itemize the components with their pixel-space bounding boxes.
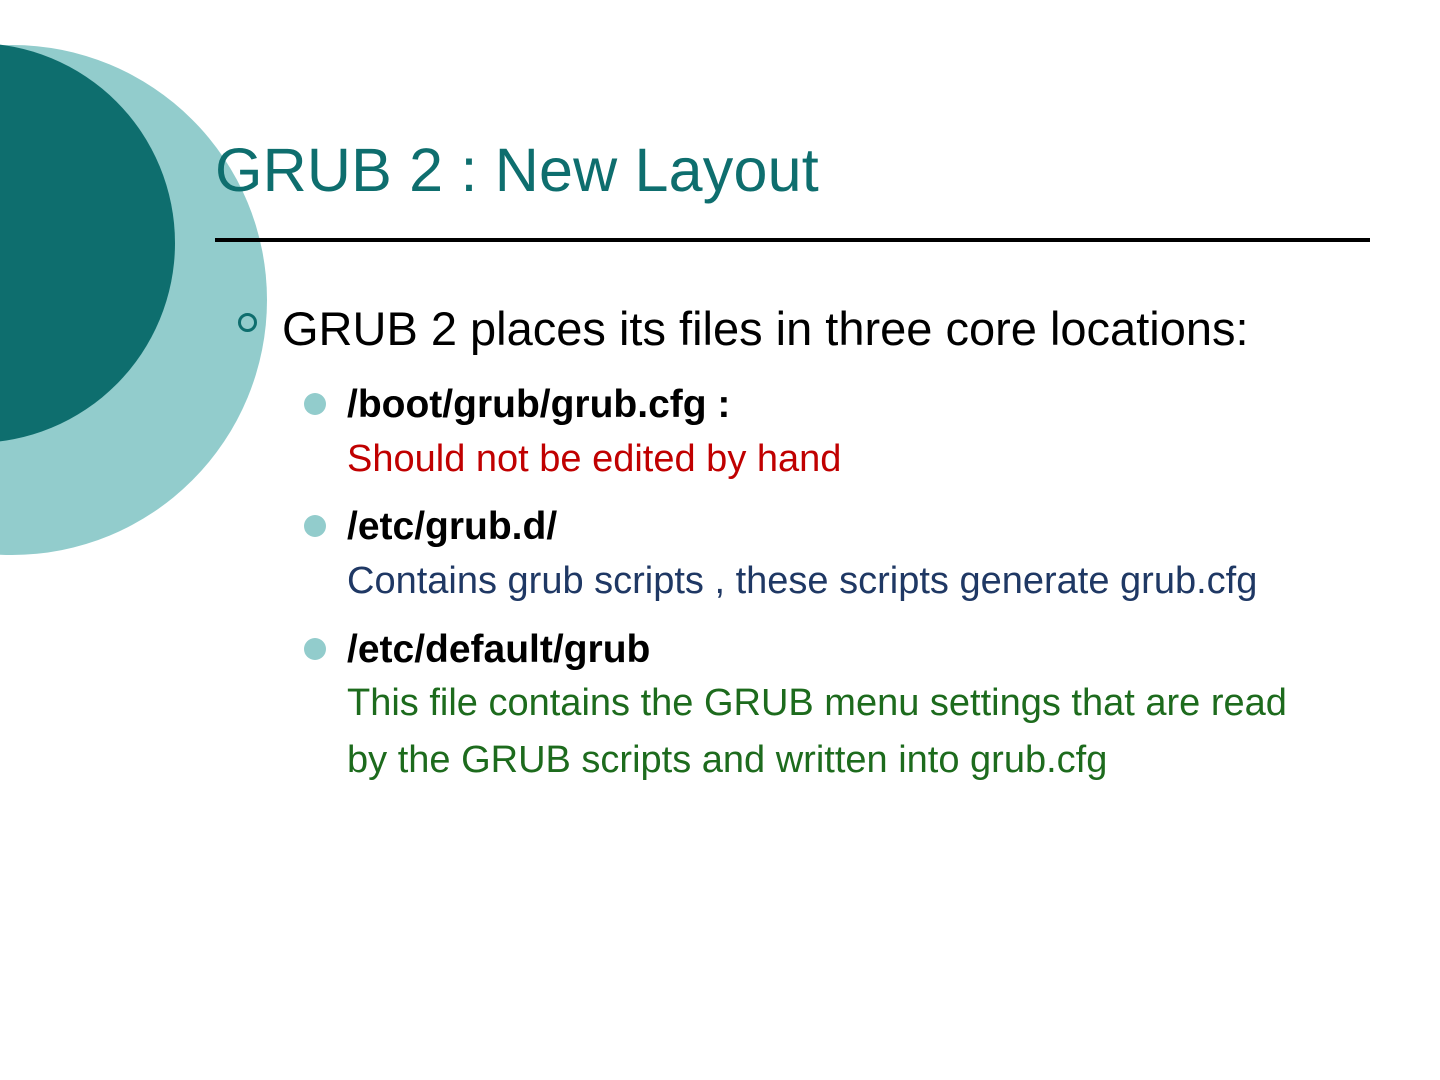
bullet-level2-item-2: /etc/grub.d/ (0, 501, 1440, 553)
presentation-slide: GRUB 2 : New Layout GRUB 2 places its fi… (0, 0, 1440, 1080)
spacer (0, 487, 1440, 501)
bullet-level1: GRUB 2 places its files in three core lo… (0, 297, 1440, 361)
hollow-circle-bullet-icon (238, 313, 257, 332)
title-block: GRUB 2 : New Layout (215, 138, 1375, 203)
filled-dot-bullet-icon (304, 515, 326, 537)
bullet-level2-item-3: /etc/default/grub (0, 624, 1440, 676)
path-note-1: Should not be edited by hand (0, 431, 1440, 487)
path-label-1: /boot/grub/grub.cfg : (347, 379, 1330, 431)
path-label-3: /etc/default/grub (347, 624, 1330, 676)
page-title: GRUB 2 : New Layout (215, 138, 1375, 203)
path-note-2: Contains grub scripts , these scripts ge… (0, 553, 1440, 609)
slide-body: GRUB 2 places its files in three core lo… (0, 297, 1440, 788)
title-divider (215, 238, 1370, 242)
bullet-level2-item-1: /boot/grub/grub.cfg : (0, 379, 1440, 431)
filled-dot-bullet-icon (304, 393, 326, 415)
spacer (0, 361, 1440, 379)
bullet-level1-text: GRUB 2 places its files in three core lo… (282, 297, 1330, 361)
spacer (0, 610, 1440, 624)
path-label-2: /etc/grub.d/ (347, 501, 1330, 553)
filled-dot-bullet-icon (304, 638, 326, 660)
path-note-3: This file contains the GRUB menu setting… (0, 675, 1440, 787)
